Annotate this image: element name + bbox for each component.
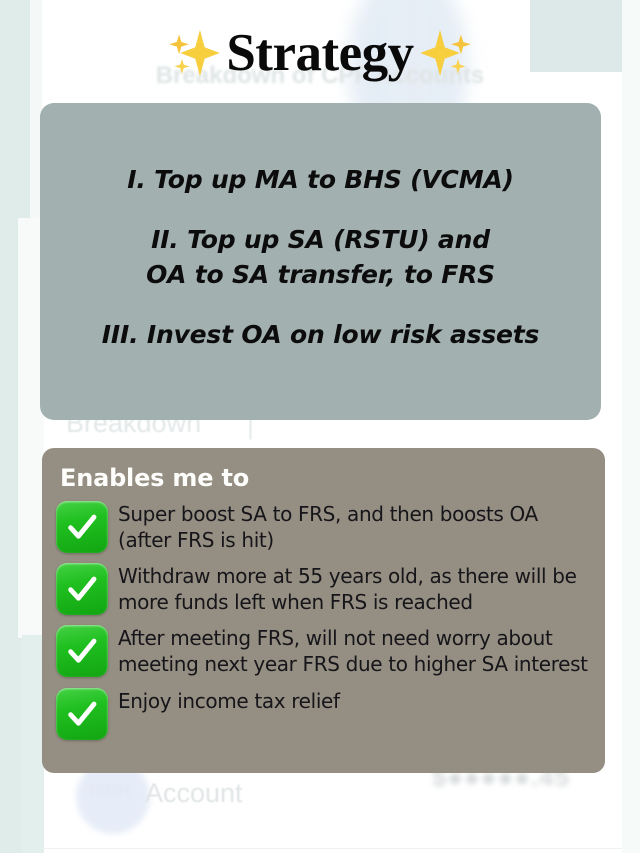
list-item-label: Withdraw more at 55 years old, as there …	[118, 562, 589, 615]
check-glyph-icon	[65, 634, 99, 668]
screenshot-canvas: Breakdown of CPF Accounts Breakdown | HI…	[0, 0, 640, 853]
background-ghost-divider-line	[42, 848, 622, 849]
strategy-step-2: II. Top up SA (RSTU) and OA to SA transf…	[146, 223, 495, 292]
list-item-label: After meeting FRS, will not need worry a…	[118, 624, 589, 677]
sparkles-icon	[418, 22, 476, 84]
white-check-mark-icon	[56, 501, 108, 553]
white-check-mark-icon	[56, 625, 108, 677]
background-right-edge	[622, 0, 640, 853]
background-left-strip-lower	[22, 635, 44, 853]
background-ghost-avatar-label: HIGH	[90, 782, 130, 800]
check-glyph-icon	[65, 510, 99, 544]
list-item: Enjoy income tax relief	[56, 687, 589, 740]
list-item-label: Enjoy income tax relief	[118, 687, 340, 715]
strategy-step-2-line-1: II. Top up SA (RSTU) and	[146, 223, 495, 258]
strategy-panel: I. Top up MA to BHS (VCMA) II. Top up SA…	[40, 103, 601, 420]
enables-list: Super boost SA to FRS, and then boosts O…	[56, 500, 589, 740]
enables-card: Enables me to Super boost SA to FRS, and…	[42, 448, 605, 773]
list-item-label: Super boost SA to FRS, and then boosts O…	[118, 500, 589, 553]
check-glyph-icon	[65, 697, 99, 731]
list-item: Super boost SA to FRS, and then boosts O…	[56, 500, 589, 553]
enables-heading: Enables me to	[60, 464, 589, 492]
white-check-mark-icon	[56, 688, 108, 740]
white-check-mark-icon	[56, 563, 108, 615]
page-title: Strategy	[0, 22, 640, 84]
sparkles-icon	[164, 22, 222, 84]
page-title-text: Strategy	[226, 27, 413, 80]
list-item: Withdraw more at 55 years old, as there …	[56, 562, 589, 615]
strategy-step-1: I. Top up MA to BHS (VCMA)	[58, 163, 583, 198]
check-glyph-icon	[65, 572, 99, 606]
list-item: After meeting FRS, will not need worry a…	[56, 624, 589, 677]
background-ghost-account-label: Account	[145, 778, 243, 809]
strategy-step-3: III. Invest OA on low risk assets	[58, 318, 583, 353]
strategy-step-2-line-2: OA to SA transfer, to FRS	[146, 258, 495, 293]
